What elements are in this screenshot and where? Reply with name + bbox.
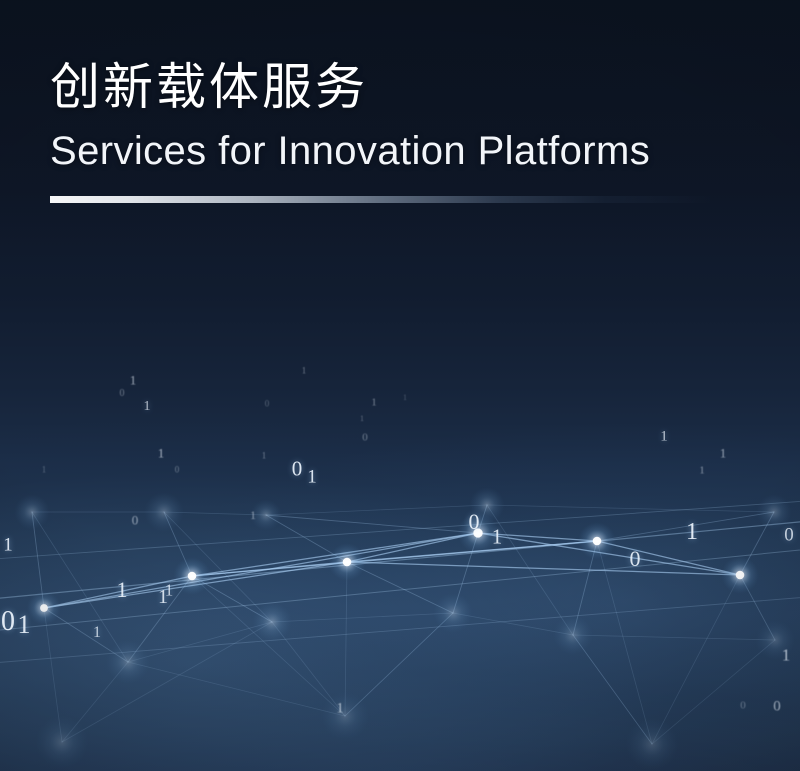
node-left-edge — [40, 604, 48, 612]
mesh-edge-20 — [597, 512, 774, 541]
digit-1-h: 1 — [307, 468, 317, 487]
mesh-edge-4 — [597, 541, 740, 575]
mesh-faint-edge-1 — [164, 512, 266, 515]
mesh-edge-14 — [453, 533, 478, 613]
node-dim-mid-right-halo — [433, 593, 473, 633]
digit-1-s: 1 — [158, 587, 168, 607]
digit-1-u: 1 — [18, 612, 31, 638]
digit-1-f: 1 — [158, 447, 165, 460]
page-title-chinese: 创新载体服务 — [50, 58, 750, 116]
digit-1-k: 1 — [403, 394, 407, 402]
mesh-edge-5 — [44, 562, 347, 608]
mesh-faint-edge-7 — [573, 635, 775, 640]
node-dim-right-low-halo — [755, 620, 795, 660]
node-dim-mid-left-halo — [106, 640, 150, 684]
mesh-faint-edge-15 — [345, 613, 453, 716]
mesh-edge-18 — [128, 576, 192, 662]
digit-1-o: 1 — [3, 536, 13, 555]
digit-1-v: 1 — [93, 625, 101, 641]
streak-low-sweep — [0, 596, 800, 664]
digit-0-a: 0 — [120, 389, 125, 399]
streak-mid-sweep — [0, 548, 800, 632]
digit-1-g: 1 — [262, 452, 267, 461]
mesh-faint-edge-2 — [266, 505, 487, 515]
banner-headline: 创新载体服务 Services for Innovation Platforms — [50, 58, 750, 203]
mesh-edge-17 — [44, 608, 128, 662]
node-center-halo — [458, 513, 499, 554]
digit-0-j: 0 — [1, 608, 15, 636]
mesh-faint-edge-10 — [272, 622, 345, 716]
mesh-edge-13 — [347, 562, 453, 613]
page-subtitle-english: Services for Innovation Platforms — [50, 128, 750, 174]
mesh-faint-edge-6 — [453, 613, 573, 635]
digit-1-j: 1 — [250, 509, 256, 521]
digit-0-d: 0 — [175, 466, 180, 475]
node-left-inner-halo — [173, 557, 210, 594]
digit-1-w: 1 — [782, 647, 791, 664]
mesh-faint-edge-8 — [62, 662, 128, 742]
mesh-edge-12 — [192, 576, 272, 622]
digit-0-b: 0 — [265, 400, 270, 409]
node-dim-top-right-halo — [469, 487, 504, 522]
digit-1-n: 1 — [699, 466, 705, 477]
node-dim-lower-right-halo — [553, 615, 593, 655]
mesh-node-group — [14, 487, 794, 770]
mesh-streak-group — [0, 500, 800, 664]
mesh-faint-edge-17 — [32, 512, 128, 662]
mesh-faint-edge-4 — [128, 622, 272, 662]
node-dim-bottom-left-halo — [36, 716, 89, 769]
mesh-faint-edge-18 — [164, 512, 272, 622]
mesh-edge-21 — [740, 512, 774, 575]
innovation-platform-banner: 101101101010110111111010101110111010 创新载… — [0, 0, 800, 771]
mesh-edge-16 — [740, 575, 775, 640]
node-right-halo — [721, 556, 758, 593]
mesh-edge-0 — [44, 576, 192, 608]
node-center — [473, 528, 482, 537]
mesh-faint-edge-20 — [192, 576, 345, 716]
node-dim-far-right-halo — [756, 494, 791, 529]
digit-1-b: 1 — [144, 400, 151, 414]
digit-1-t: 1 — [165, 582, 174, 599]
digit-1-q: 1 — [686, 520, 698, 544]
mesh-faint-edge-12 — [573, 635, 652, 744]
node-left-edge-halo — [27, 591, 61, 625]
mesh-edge-9 — [44, 533, 478, 608]
node-dim-bottom-mid-halo — [321, 692, 369, 740]
mesh-faint-edge-23 — [597, 541, 652, 744]
node-dim-bottom-right-halo — [626, 718, 679, 771]
title-divider-rule — [50, 196, 710, 203]
mesh-edge-15 — [573, 541, 597, 635]
mesh-faint-edge-13 — [652, 640, 775, 744]
digit-1-c: 1 — [302, 367, 307, 376]
mesh-faint-edge-9 — [62, 622, 272, 742]
mesh-faint-edge-5 — [272, 613, 453, 622]
mesh-edge-8 — [478, 533, 740, 575]
mesh-edge-3 — [478, 533, 597, 541]
digit-1-r: 1 — [117, 579, 128, 601]
mesh-bright-edge-group — [32, 505, 775, 662]
mesh-faint-edge-22 — [44, 608, 62, 742]
node-dim-top-mid-halo — [251, 500, 282, 531]
mesh-faint-edge-16 — [573, 635, 652, 744]
node-right — [736, 571, 745, 580]
digit-1-l: 1 — [660, 430, 668, 445]
digit-0-e: 0 — [292, 459, 303, 480]
node-center-right-halo — [578, 522, 615, 559]
node-dim-top-left-halo — [144, 492, 184, 532]
digit-1-p: 1 — [492, 527, 503, 548]
digit-1-x: 1 — [336, 702, 344, 717]
digit-0-i: 0 — [784, 526, 794, 545]
streak-top-sweep — [0, 500, 800, 560]
digit-0-k: 0 — [773, 700, 781, 715]
digit-0-c: 0 — [362, 433, 368, 444]
node-dim-upper-left-halo — [14, 494, 49, 529]
mesh-edge-19 — [478, 505, 487, 533]
digit-1-i: 1 — [42, 466, 47, 475]
mesh-faint-edge-24 — [652, 575, 740, 744]
mesh-edge-10 — [192, 541, 597, 576]
mesh-edge-7 — [347, 541, 597, 562]
digit-1-m: 1 — [720, 447, 727, 460]
digit-1-a: 1 — [130, 374, 137, 387]
mesh-edge-11 — [347, 562, 740, 575]
mesh-faint-edge-11 — [345, 613, 453, 716]
mesh-edge-23 — [266, 515, 347, 562]
digit-1-d: 1 — [360, 415, 364, 423]
mesh-faint-edge-21 — [345, 562, 347, 716]
mesh-edge-24 — [266, 515, 478, 533]
digit-0-g: 0 — [469, 511, 480, 533]
node-center-right — [593, 537, 602, 546]
streak-upper-sweep — [0, 520, 800, 600]
mesh-edge-22 — [164, 512, 192, 576]
mesh-faint-edge-3 — [487, 505, 774, 512]
node-dim-mid-center-halo — [252, 602, 292, 642]
node-center-left — [343, 558, 352, 567]
mesh-faint-edge-14 — [128, 662, 345, 716]
mesh-edge-1 — [192, 562, 347, 576]
mesh-faint-edge-19 — [487, 505, 573, 635]
node-center-left-halo — [328, 543, 365, 580]
digit-1-e: 1 — [371, 398, 377, 409]
digit-0-h: 0 — [630, 548, 641, 570]
node-left-inner — [188, 572, 197, 581]
mesh-faint-edge-group — [32, 505, 775, 744]
digit-0-f: 0 — [132, 514, 139, 527]
digit-0-l: 0 — [740, 701, 746, 712]
mesh-edge-6 — [192, 533, 478, 576]
mesh-edge-2 — [347, 533, 478, 562]
mesh-edge-25 — [32, 512, 44, 608]
